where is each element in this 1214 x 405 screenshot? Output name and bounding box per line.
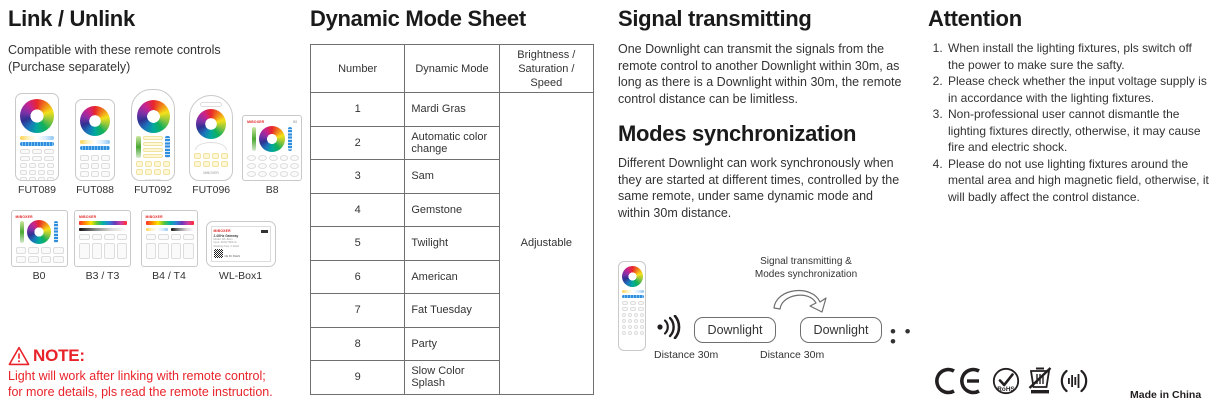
remote-item-b8: MiBOXER B8 B8 — [240, 115, 304, 196]
page-title-dynamic-mode-sheet: Dynamic Mode Sheet — [310, 6, 600, 32]
brightness-bar — [20, 142, 54, 146]
cell-mode: Slow Color Splash — [405, 361, 499, 395]
panel-device-b8: MiBOXER B8 — [242, 115, 302, 181]
col-header-dynamic-mode: Dynamic Mode — [405, 45, 499, 93]
cell-mode: American — [405, 260, 499, 294]
remote-caption: FUT088 — [76, 184, 114, 196]
color-wheel-icon — [137, 100, 170, 133]
cell-adjustable: Adjustable — [499, 93, 593, 395]
cct-slider — [146, 228, 169, 231]
made-in-label: Made in China — [1130, 389, 1201, 401]
diagram-arrow-caption: Signal transmitting & Modes synchronizat… — [726, 255, 886, 281]
keypad-zones — [79, 243, 127, 259]
keypad-zones — [16, 247, 64, 263]
cell-mode: Gemstone — [405, 193, 499, 227]
qr-code-icon — [214, 249, 223, 258]
cct-bar — [622, 290, 644, 293]
brand-mark: MiBOXER — [194, 171, 228, 175]
remote-item-fut092: MiBOXER FUT092 — [124, 89, 182, 196]
arrow-caption-line2: Modes synchronization — [726, 268, 886, 281]
keypad-zones — [194, 153, 228, 167]
cell-number: 3 — [311, 160, 405, 194]
cell-number: 5 — [311, 227, 405, 261]
keypad-zones — [20, 163, 54, 181]
cell-mode: Mardi Gras — [405, 93, 499, 127]
brightness-slider — [171, 228, 194, 231]
page-title-attention: Attention — [928, 6, 1210, 32]
cell-number: 7 — [311, 294, 405, 328]
remote-caption: B4 / T4 — [152, 270, 186, 282]
signal-transmitting-section: Signal transmitting One Downlight can tr… — [618, 6, 908, 221]
link-subtitle-line2: (Purchase separately) — [8, 59, 304, 76]
cell-mode: Automatic color change — [405, 126, 499, 160]
cell-number: 4 — [311, 193, 405, 227]
brightness-strip — [288, 127, 292, 151]
downlight-box-1: Downlight — [694, 317, 776, 343]
saturation-strip — [20, 221, 24, 243]
arrow-caption-line1: Signal transmitting & — [726, 255, 886, 268]
diagram-remote-icon — [618, 261, 646, 351]
hue-slider — [146, 221, 194, 225]
onoff-key — [200, 102, 222, 107]
table-header-row: Number Dynamic Mode Brightness / Saturat… — [311, 45, 594, 93]
model-mark: B8 — [293, 120, 297, 124]
link-unlink-section: Link / Unlink Compatible with these remo… — [8, 6, 304, 282]
note-label: NOTE: — [33, 346, 85, 366]
attention-item: Please check whether the input voltage s… — [946, 73, 1210, 106]
cell-number: 8 — [311, 327, 405, 361]
keypad-top — [20, 149, 54, 161]
note-heading: NOTE: — [8, 346, 298, 366]
dynamic-mode-sheet-section: Dynamic Mode Sheet Number Dynamic Mode B… — [310, 6, 600, 395]
cct-bar — [20, 136, 54, 140]
brightness-strip — [54, 221, 58, 243]
keypad-modes — [146, 234, 194, 240]
remote-caption: FUT089 — [18, 184, 56, 196]
remote-gallery-row-1: MiBOXER FUT089 MiBOXER FUT088 — [8, 89, 304, 196]
saturation-strip — [252, 127, 256, 151]
remote-device-fut088: MiBOXER — [75, 99, 115, 181]
modes-paragraph: Different Downlight can work synchronous… — [618, 155, 908, 221]
attention-item: Non-professional user cannot dismantle t… — [946, 106, 1210, 156]
color-wheel-icon — [80, 106, 110, 136]
remote-item-fut089: MiBOXER FUT089 — [8, 93, 66, 196]
table-row: 1 Mardi Gras Adjustable — [311, 93, 594, 127]
attention-item: Please do not use lighting fixtures arou… — [946, 156, 1210, 206]
remote-caption: B0 — [33, 270, 46, 282]
rf-signal-waves-icon — [656, 315, 686, 339]
remote-caption: B8 — [266, 184, 279, 196]
color-wheel-icon — [196, 109, 226, 139]
downlight-box-2: Downlight — [800, 317, 882, 343]
product-manual-page: Link / Unlink Compatible with these remo… — [0, 0, 1214, 405]
cell-mode: Sam — [405, 160, 499, 194]
remote-item-b4t4: MiBOXER B4 / T4 — [135, 210, 203, 282]
ce-mark-icon — [933, 367, 985, 395]
hue-slider — [79, 221, 127, 225]
note-text: Light will work after linking with remot… — [8, 368, 298, 400]
col-header-brightness-line1: Brightness / — [517, 49, 575, 61]
note-line-1: Light will work after linking with remot… — [8, 368, 298, 384]
curved-transmit-arrow-icon — [764, 282, 834, 316]
attention-list: When install the lighting fixtures, pls … — [928, 40, 1210, 205]
remote-gallery-row-2: MiBOXER B0 MiBOXER — [8, 210, 304, 282]
warning-triangle-icon — [8, 346, 30, 366]
panel-device-wlbox1: MiBOXER 2.4GHz Gateway Model: WL-Box1Inp… — [206, 221, 276, 267]
remote-device-fut092: MiBOXER — [131, 89, 175, 181]
panel-device-b0: MiBOXER — [11, 210, 68, 267]
remote-device-fut096: MiBOXER — [189, 95, 233, 181]
color-wheel-icon — [27, 220, 51, 244]
signal-diagram: Signal transmitting & Modes synchronizat… — [618, 255, 918, 365]
remote-item-b0: MiBOXER B0 — [8, 210, 70, 282]
remote-device-fut089: MiBOXER — [15, 93, 59, 181]
brightness-slider — [79, 228, 127, 231]
color-wheel-icon — [259, 126, 285, 152]
attention-item: When install the lighting fixtures, pls … — [946, 40, 1210, 73]
page-title-modes-synchronization: Modes synchronization — [618, 121, 908, 147]
brand-mark: MiBOXER — [214, 229, 231, 233]
brand-mark: MiBOXER — [79, 215, 126, 219]
saturation-strip — [136, 136, 141, 158]
brightness-strip — [165, 136, 170, 158]
keypad-modes — [79, 234, 127, 240]
arc-slider — [195, 142, 227, 150]
cell-mode: Party — [405, 327, 499, 361]
panel-device-b4t4: MiBOXER — [141, 210, 198, 267]
brightness-bar — [622, 295, 644, 298]
rohs-label: RoHS — [997, 386, 1015, 393]
keypad-zones — [146, 243, 194, 259]
cell-number: 2 — [311, 126, 405, 160]
col-header-brightness: Brightness / Saturation / Speed — [499, 45, 593, 93]
col-header-number: Number — [311, 45, 405, 93]
link-subtitle-line1: Compatible with these remote controls — [8, 42, 304, 59]
brand-mark: MiBOXER — [136, 179, 170, 181]
panel-device-b3t3: MiBOXER — [74, 210, 131, 267]
color-wheel-icon — [20, 99, 54, 133]
note-line-2: for more details, pls read the remote in… — [8, 384, 298, 400]
distance-label-1: Distance 30m — [654, 349, 718, 361]
cell-mode: Fat Tuesday — [405, 294, 499, 328]
cct-bar — [80, 140, 110, 144]
certification-marks: RoHS — [933, 366, 1088, 396]
cell-number: 6 — [311, 260, 405, 294]
color-wheel-icon — [622, 266, 643, 287]
cell-mode: Twilight — [405, 227, 499, 261]
cell-number: 9 — [311, 361, 405, 395]
remote-item-wlbox1: MiBOXER 2.4GHz Gateway Model: WL-Box1Inp… — [203, 221, 278, 282]
cell-number: 1 — [311, 93, 405, 127]
remote-caption: WL-Box1 — [219, 270, 262, 282]
remote-item-fut096: MiBOXER FUT096 — [182, 95, 240, 196]
remote-caption: FUT096 — [192, 184, 230, 196]
link-subtitle: Compatible with these remote controls (P… — [8, 42, 304, 75]
brightness-bar — [80, 146, 110, 150]
page-title-signal-transmitting: Signal transmitting — [618, 6, 908, 32]
brand-mark: MiBOXER — [16, 215, 63, 219]
attention-section: Attention When install the lighting fixt… — [928, 6, 1210, 205]
diagram-ellipsis: • • • — [890, 327, 918, 347]
distance-label-2: Distance 30m — [760, 349, 824, 361]
keypad-zones — [247, 155, 299, 177]
rohs-icon: RoHS — [992, 367, 1020, 395]
signal-paragraph: One Downlight can transmit the signals f… — [618, 41, 908, 107]
brand-mark: MiBOXER — [146, 215, 193, 219]
weee-crossed-bin-icon — [1027, 366, 1053, 396]
brand-mark: MiBOXER — [247, 120, 264, 124]
keypad-zones — [136, 161, 170, 175]
rf-radio-icon — [1060, 367, 1088, 395]
remote-item-b3t3: MiBOXER B3 / T3 — [70, 210, 135, 282]
page-title-link-unlink: Link / Unlink — [8, 6, 304, 32]
remote-item-fut088: MiBOXER FUT088 — [66, 99, 124, 196]
remote-caption: B3 / T3 — [86, 270, 120, 282]
dynamic-modes-table: Number Dynamic Mode Brightness / Saturat… — [310, 44, 594, 395]
col-header-brightness-line2: Saturation / Speed — [518, 63, 574, 89]
keypad — [80, 155, 110, 177]
note-block: NOTE: Light will work after linking with… — [8, 346, 298, 400]
remote-caption: FUT092 — [134, 184, 172, 196]
